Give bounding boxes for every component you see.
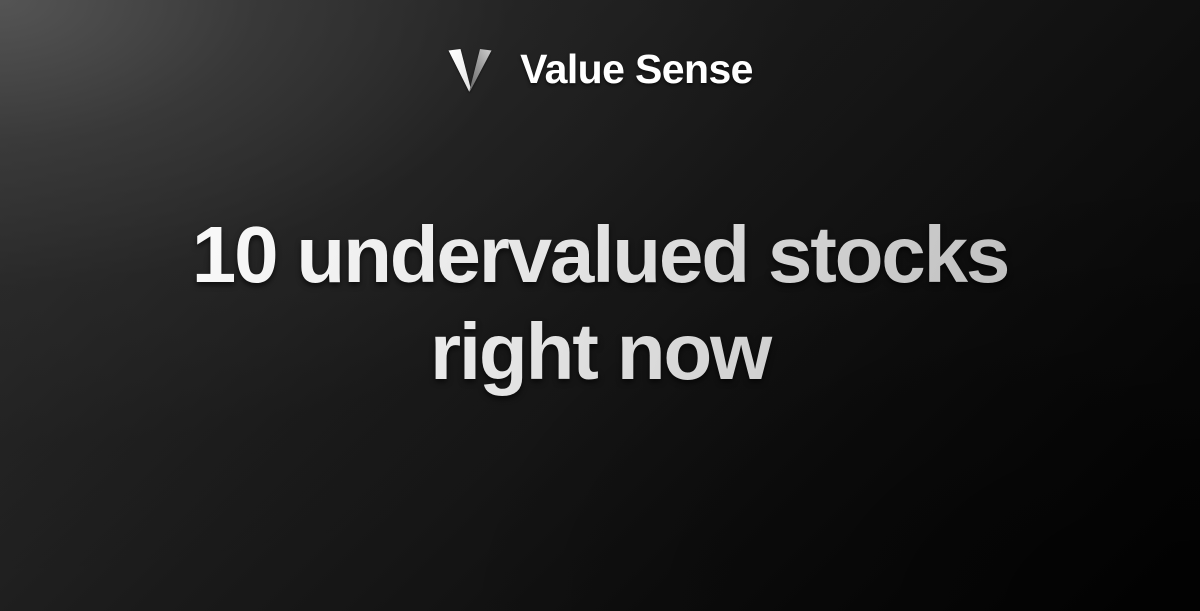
headline-container: 10 undervalued stocks right now xyxy=(0,206,1200,400)
brand-name: Value Sense xyxy=(520,49,753,90)
brand-lockup: Value Sense xyxy=(0,46,1200,93)
headline-line-2: right now xyxy=(60,303,1140,400)
social-share-card: Value Sense 10 undervalued stocks right … xyxy=(0,0,1200,611)
headline-line-1: 10 undervalued stocks xyxy=(60,206,1140,303)
page-title: 10 undervalued stocks right now xyxy=(60,206,1140,400)
value-sense-v-logo-icon xyxy=(447,46,493,93)
